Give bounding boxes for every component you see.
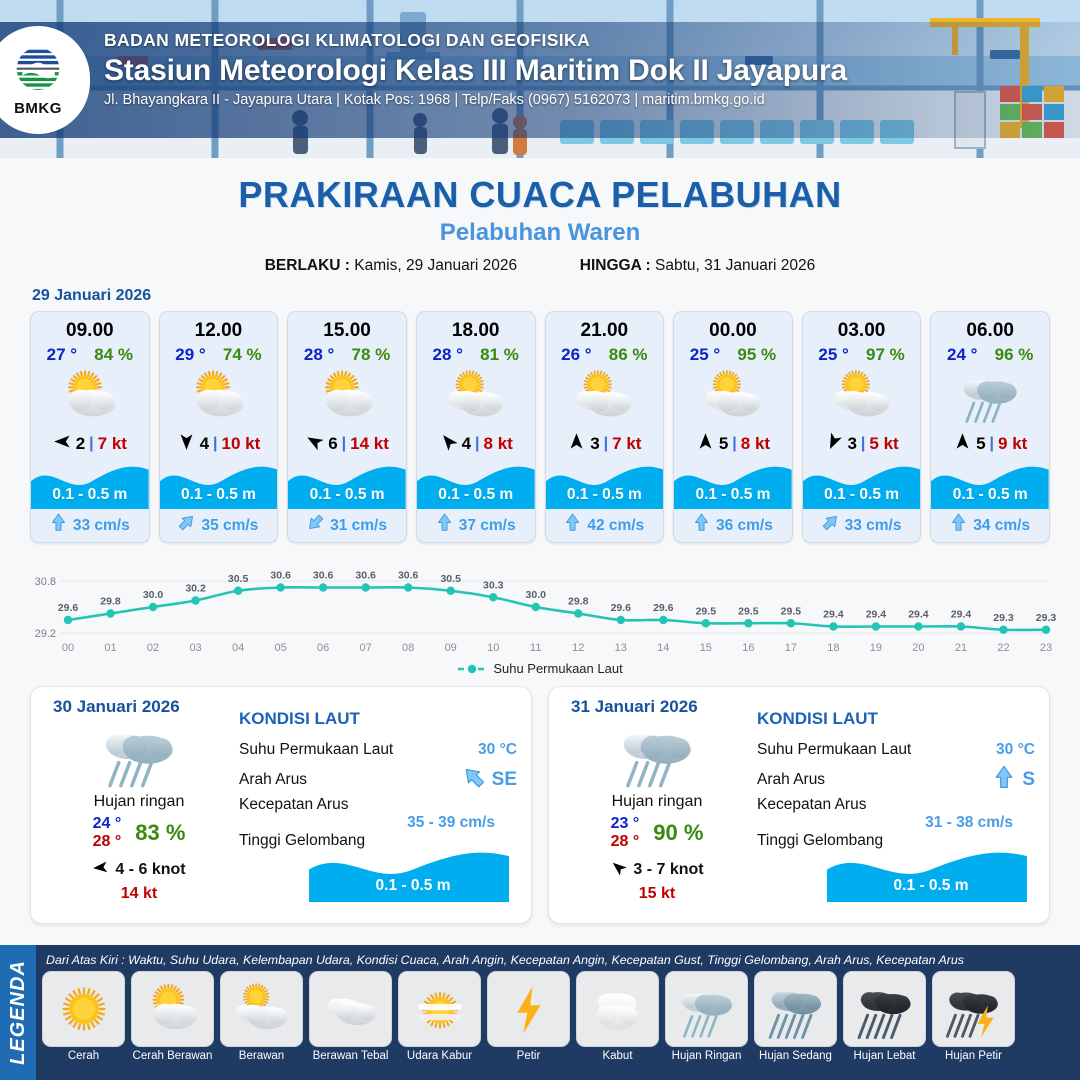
card-wave-block: 0.1 - 0.5 m: [288, 461, 406, 509]
card-current-speed: 42 cm/s: [587, 517, 644, 535]
wind-direction-arrow-icon: [696, 432, 715, 456]
daily-summary-card: 31 Januari 2026 Hujan ringan 23 ° 28 ° 9…: [548, 686, 1050, 924]
card-gust: 8 kt: [484, 434, 513, 454]
card-wind-direction: 3: [847, 434, 856, 454]
legend-item-list: Cerah Cerah Berawan Berawan Berawan Teba…: [42, 971, 1072, 1062]
svg-text:29.4: 29.4: [823, 609, 844, 621]
summary-wind-row: 4 - 6 knot: [45, 859, 233, 881]
svg-text:20: 20: [912, 642, 924, 654]
summary-temps: 23 ° 28 ° 90 %: [563, 815, 751, 851]
card-time: 09.00: [31, 312, 149, 342]
card-wind-direction: 6: [328, 434, 337, 454]
card-wind-direction: 5: [976, 434, 985, 454]
card-temperature: 29 °: [175, 345, 205, 365]
legend-item-label: Kabut: [576, 1050, 659, 1062]
summary-left: 31 Januari 2026 Hujan ringan 23 ° 28 ° 9…: [563, 697, 751, 911]
svg-text:30.6: 30.6: [355, 570, 376, 582]
summary-temp-max: 28 °: [93, 833, 122, 851]
current-direction-arrow-icon: [307, 513, 324, 537]
cerah-berawan-icon: [160, 365, 278, 427]
card-time: 15.00: [288, 312, 406, 342]
chart-legend: Suhu Permukaan Laut: [0, 661, 1080, 676]
card-gust: 7 kt: [98, 434, 127, 454]
svg-text:03: 03: [189, 642, 201, 654]
card-humidity: 96 %: [995, 345, 1034, 365]
summary-sea-conditions: KONDISI LAUT Suhu Permukaan Laut 30 °C A…: [751, 697, 1035, 911]
svg-text:13: 13: [615, 642, 627, 654]
legend-tab-label: LEGENDA: [7, 960, 30, 1065]
forecast-card: 00.00 25 ° 95 % 5 | 8 kt 0.1 - 0.5 m 36 …: [673, 311, 793, 543]
port-name: Pelabuhan Waren: [0, 219, 1080, 247]
validity-row: BERLAKU : Kamis, 29 Januari 2026 HINGGA …: [0, 257, 1080, 275]
sea-value: 30 °C: [478, 741, 517, 759]
wind-direction-arrow-icon: [953, 432, 972, 456]
card-humidity: 81 %: [480, 345, 519, 365]
card-temp-humidity: 29 ° 74 %: [160, 342, 278, 365]
card-temp-humidity: 27 ° 84 %: [31, 342, 149, 365]
svg-text:04: 04: [232, 642, 244, 654]
svg-text:30.6: 30.6: [270, 570, 291, 582]
card-temp-humidity: 25 ° 95 %: [674, 342, 792, 365]
svg-text:29.4: 29.4: [951, 609, 972, 621]
forecast-card: 18.00 28 ° 81 % 4 | 8 kt 0.1 - 0.5 m 37 …: [416, 311, 536, 543]
card-temp-humidity: 26 ° 86 %: [546, 342, 664, 365]
sea-value: 35 - 39 cm/s: [239, 814, 517, 832]
legend-item-label: Cerah: [42, 1050, 125, 1062]
card-gust: 7 kt: [612, 434, 641, 454]
wind-direction-arrow-icon: [824, 432, 843, 456]
berawan-icon: [546, 365, 664, 427]
svg-text:29.5: 29.5: [738, 605, 759, 617]
card-wind-row: 5 | 9 kt: [931, 427, 1049, 461]
summary-temp-min: 23 °: [611, 815, 640, 833]
current-direction-label: SE: [492, 769, 517, 791]
card-current-speed: 37 cm/s: [459, 517, 516, 535]
legend-body: Dari Atas Kiri : Waktu, Suhu Udara, Kele…: [36, 945, 1080, 1080]
card-current-row: 36 cm/s: [674, 509, 792, 542]
summary-wind-speed: 3 - 7 knot: [633, 861, 703, 879]
wind-direction-arrow-icon: [53, 432, 72, 456]
card-wave-height: 0.1 - 0.5 m: [674, 486, 792, 504]
current-direction-arrow-icon: [950, 513, 967, 537]
legend-item-label: Hujan Petir: [932, 1050, 1015, 1062]
svg-text:06: 06: [317, 642, 329, 654]
agency-name: BADAN METEOROLOGI KLIMATOLOGI DAN GEOFIS…: [104, 30, 847, 51]
udara-kabur-icon: [398, 971, 481, 1047]
svg-text:14: 14: [657, 642, 669, 654]
wind-direction-arrow-icon: [439, 432, 458, 456]
legend-item: Kabut: [576, 971, 659, 1062]
summary-humidity: 83 %: [135, 820, 185, 846]
hujan-ringan-icon: [45, 717, 233, 791]
card-temp-humidity: 25 ° 97 %: [803, 342, 921, 365]
svg-text:00: 00: [62, 642, 74, 654]
card-temperature: 28 °: [304, 345, 334, 365]
sea-key: Arah Arus: [757, 771, 825, 789]
hingga-label: HINGGA :: [580, 257, 651, 274]
card-current-speed: 33 cm/s: [845, 517, 902, 535]
hujan-ringan-icon: [563, 717, 751, 791]
card-current-row: 42 cm/s: [546, 509, 664, 542]
summary-gust: 15 kt: [563, 885, 751, 903]
current-direction-arrow-icon: [463, 765, 485, 796]
forecast-card: 03.00 25 ° 97 % 3 | 5 kt 0.1 - 0.5 m 33 …: [802, 311, 922, 543]
card-temperature: 25 °: [818, 345, 848, 365]
card-sep: |: [213, 435, 217, 453]
card-gust: 9 kt: [998, 434, 1027, 454]
card-wind-direction: 4: [462, 434, 471, 454]
forecast-card: 15.00 28 ° 78 % 6 | 14 kt 0.1 - 0.5 m 31…: [287, 311, 407, 543]
card-time: 18.00: [417, 312, 535, 342]
card-temperature: 28 °: [432, 345, 462, 365]
svg-text:29.8: 29.8: [568, 596, 589, 608]
card-sep: |: [342, 435, 346, 453]
legend-item-label: Udara Kabur: [398, 1050, 481, 1062]
card-time: 03.00: [803, 312, 921, 342]
legend-item: Petir: [487, 971, 570, 1062]
card-time: 06.00: [931, 312, 1049, 342]
sea-value: 30 °C: [996, 741, 1035, 759]
legend-item: Hujan Lebat: [843, 971, 926, 1062]
summary-date: 30 Januari 2026: [53, 697, 233, 717]
card-current-row: 31 cm/s: [288, 509, 406, 542]
svg-text:05: 05: [274, 642, 286, 654]
berawan-icon: [674, 365, 792, 427]
summary-wind-speed: 4 - 6 knot: [115, 861, 185, 879]
card-temp-humidity: 24 ° 96 %: [931, 342, 1049, 365]
svg-text:29.6: 29.6: [653, 602, 674, 614]
card-current-speed: 36 cm/s: [716, 517, 773, 535]
card-current-row: 34 cm/s: [931, 509, 1049, 542]
summary-sea-conditions: KONDISI LAUT Suhu Permukaan Laut 30 °C A…: [233, 697, 517, 911]
card-current-speed: 33 cm/s: [73, 517, 130, 535]
sea-key: Suhu Permukaan Laut: [239, 741, 393, 759]
card-wind-row: 2 | 7 kt: [31, 427, 149, 461]
svg-text:29.8: 29.8: [100, 596, 121, 608]
sea-row-wave: Tinggi Gelombang 0.1 - 0.5 m: [239, 832, 517, 902]
legend-item-label: Hujan Sedang: [754, 1050, 837, 1062]
wind-direction-arrow-icon: [92, 859, 109, 881]
card-wave-height: 0.1 - 0.5 m: [803, 486, 921, 504]
sea-value: 31 - 38 cm/s: [757, 814, 1035, 832]
svg-text:29.4: 29.4: [866, 609, 887, 621]
berawan-icon: [220, 971, 303, 1047]
forecast-day-label: 29 Januari 2026: [32, 287, 1080, 305]
hujan-ringan-icon: [931, 365, 1049, 427]
card-wave-block: 0.1 - 0.5 m: [803, 461, 921, 509]
current-direction-arrow-icon: [436, 513, 453, 537]
summary-condition: Hujan ringan: [45, 793, 233, 811]
legend-item: Udara Kabur: [398, 971, 481, 1062]
card-wind-direction: 3: [590, 434, 599, 454]
summary-temps: 24 ° 28 ° 83 %: [45, 815, 233, 851]
legend-strip: LEGENDA Dari Atas Kiri : Waktu, Suhu Uda…: [0, 945, 1080, 1080]
card-temperature: 26 °: [561, 345, 591, 365]
card-gust: 5 kt: [869, 434, 898, 454]
svg-text:29.6: 29.6: [58, 602, 79, 614]
petir-icon: [487, 971, 570, 1047]
svg-text:30.0: 30.0: [143, 589, 164, 601]
legend-item-label: Hujan Lebat: [843, 1050, 926, 1062]
card-wave-block: 0.1 - 0.5 m: [546, 461, 664, 509]
card-time: 00.00: [674, 312, 792, 342]
summary-temp-max: 28 °: [611, 833, 640, 851]
hujan-sedang-icon: [754, 971, 837, 1047]
berawan-icon: [417, 365, 535, 427]
legend-item-label: Berawan Tebal: [309, 1050, 392, 1062]
legend-item-label: Cerah Berawan: [131, 1050, 214, 1062]
svg-text:30.6: 30.6: [313, 570, 334, 582]
legend-item-label: Petir: [487, 1050, 570, 1062]
sea-row-current-direction: Arah Arus SE: [239, 765, 517, 796]
wind-direction-arrow-icon: [567, 432, 586, 456]
current-direction-label: S: [1022, 769, 1035, 791]
card-wind-row: 4 | 8 kt: [417, 427, 535, 461]
card-wind-row: 3 | 5 kt: [803, 427, 921, 461]
card-wind-row: 6 | 14 kt: [288, 427, 406, 461]
sea-row-current-direction: Arah Arus S: [757, 765, 1035, 796]
bmkg-logo-text: BMKG: [14, 100, 62, 117]
card-sep: |: [990, 435, 994, 453]
hingga-value: Sabtu, 31 Januari 2026: [655, 257, 815, 274]
card-wave-height: 0.1 - 0.5 m: [288, 486, 406, 504]
card-time: 12.00: [160, 312, 278, 342]
sea-key: Kecepatan Arus: [239, 796, 517, 814]
legend-tab: LEGENDA: [0, 945, 36, 1080]
summary-humidity: 90 %: [653, 820, 703, 846]
card-sep: |: [861, 435, 865, 453]
svg-text:29.5: 29.5: [781, 605, 802, 617]
card-wave-block: 0.1 - 0.5 m: [417, 461, 535, 509]
sea-row-current-speed: Kecepatan Arus 31 - 38 cm/s: [757, 796, 1035, 832]
summary-left: 30 Januari 2026 Hujan ringan 24 ° 28 ° 8…: [45, 697, 233, 911]
forecast-card: 21.00 26 ° 86 % 3 | 7 kt 0.1 - 0.5 m 42 …: [545, 311, 665, 543]
svg-text:19: 19: [870, 642, 882, 654]
card-humidity: 95 %: [737, 345, 776, 365]
svg-text:23: 23: [1040, 642, 1052, 654]
forecast-card: 12.00 29 ° 74 % 4 | 10 kt 0.1 - 0.5 m 35…: [159, 311, 279, 543]
sea-row-wave: Tinggi Gelombang 0.1 - 0.5 m: [757, 832, 1035, 902]
legend-item: Hujan Sedang: [754, 971, 837, 1062]
card-wind-row: 3 | 7 kt: [546, 427, 664, 461]
svg-text:11: 11: [530, 642, 541, 654]
svg-text:09: 09: [445, 642, 457, 654]
daily-summary-card: 30 Januari 2026 Hujan ringan 24 ° 28 ° 8…: [30, 686, 532, 924]
svg-text:02: 02: [147, 642, 159, 654]
svg-text:30.5: 30.5: [228, 573, 249, 585]
card-wave-block: 0.1 - 0.5 m: [160, 461, 278, 509]
legend-item: Cerah Berawan: [131, 971, 214, 1062]
current-direction-arrow-icon: [50, 513, 67, 537]
current-direction-arrow-icon: [693, 513, 710, 537]
station-name: Stasiun Meteorologi Kelas III Maritim Do…: [104, 54, 847, 88]
svg-text:30.8: 30.8: [35, 576, 56, 588]
sea-row-sst: Suhu Permukaan Laut 30 °C: [239, 735, 517, 765]
svg-text:29.6: 29.6: [611, 602, 632, 614]
hujan-petir-icon: [932, 971, 1015, 1047]
card-wave-block: 0.1 - 0.5 m: [31, 461, 149, 509]
legend-item: Berawan Tebal: [309, 971, 392, 1062]
sea-key: Suhu Permukaan Laut: [757, 741, 911, 759]
cerah-berawan-icon: [31, 365, 149, 427]
current-direction-arrow-icon: [822, 513, 839, 537]
hujan-ringan-icon: [665, 971, 748, 1047]
sst-chart: 30.829.229.60029.80130.00230.20330.50430…: [22, 555, 1058, 659]
svg-text:12: 12: [572, 642, 584, 654]
card-wave-block: 0.1 - 0.5 m: [931, 461, 1049, 509]
svg-text:15: 15: [700, 642, 712, 654]
card-sep: |: [732, 435, 736, 453]
card-current-speed: 35 cm/s: [201, 517, 258, 535]
card-humidity: 84 %: [94, 345, 133, 365]
wind-direction-arrow-icon: [610, 859, 627, 881]
legend-item-label: Berawan: [220, 1050, 303, 1062]
forecast-card: 06.00 24 ° 96 % 5 | 9 kt 0.1 - 0.5 m 34 …: [930, 311, 1050, 543]
bmkg-logo-icon: [10, 43, 66, 99]
svg-text:08: 08: [402, 642, 414, 654]
sea-conditions-title: KONDISI LAUT: [757, 709, 1035, 729]
card-wave-block: 0.1 - 0.5 m: [674, 461, 792, 509]
current-direction-arrow-icon: [564, 513, 581, 537]
svg-text:21: 21: [955, 642, 967, 654]
sea-row-current-speed: Kecepatan Arus 35 - 39 cm/s: [239, 796, 517, 832]
legend-item: Cerah: [42, 971, 125, 1062]
sea-value: S: [993, 765, 1035, 796]
summary-date: 31 Januari 2026: [571, 697, 751, 717]
cerah-berawan-icon: [288, 365, 406, 427]
card-humidity: 86 %: [609, 345, 648, 365]
card-current-row: 33 cm/s: [31, 509, 149, 542]
card-sep: |: [89, 435, 93, 453]
svg-text:22: 22: [997, 642, 1009, 654]
card-wind-direction: 2: [76, 434, 85, 454]
chart-legend-label: Suhu Permukaan Laut: [493, 661, 622, 676]
sea-value: 0.1 - 0.5 m: [309, 877, 517, 895]
card-wave-height: 0.1 - 0.5 m: [931, 486, 1049, 504]
wind-direction-arrow-icon: [305, 432, 324, 456]
berlaku-label: BERLAKU :: [265, 257, 350, 274]
svg-text:16: 16: [742, 642, 754, 654]
card-temperature: 25 °: [690, 345, 720, 365]
daily-summary-row: 30 Januari 2026 Hujan ringan 24 ° 28 ° 8…: [0, 676, 1080, 924]
card-wave-height: 0.1 - 0.5 m: [546, 486, 664, 504]
summary-wave-block: 0.1 - 0.5 m: [827, 846, 1035, 902]
sst-chart-svg: 30.829.229.60029.80130.00230.20330.50430…: [22, 555, 1058, 659]
card-current-row: 33 cm/s: [803, 509, 921, 542]
summary-gust: 14 kt: [45, 885, 233, 903]
legend-item: Hujan Ringan: [665, 971, 748, 1062]
card-wave-height: 0.1 - 0.5 m: [31, 486, 149, 504]
svg-text:29.5: 29.5: [696, 605, 717, 617]
sea-key: Kecepatan Arus: [757, 796, 1035, 814]
card-sep: |: [604, 435, 608, 453]
station-address: Jl. Bhayangkara II - Jayapura Utara | Ko…: [104, 92, 847, 108]
card-gust: 14 kt: [350, 434, 389, 454]
card-gust: 10 kt: [222, 434, 261, 454]
svg-text:29.4: 29.4: [908, 609, 929, 621]
card-humidity: 74 %: [223, 345, 262, 365]
svg-text:10: 10: [487, 642, 499, 654]
hujan-lebat-icon: [843, 971, 926, 1047]
kabut-icon: [576, 971, 659, 1047]
card-wave-height: 0.1 - 0.5 m: [417, 486, 535, 504]
svg-text:30.0: 30.0: [526, 589, 547, 601]
card-wind-direction: 4: [200, 434, 209, 454]
sea-conditions-title: KONDISI LAUT: [239, 709, 517, 729]
wind-direction-arrow-icon: [177, 432, 196, 456]
card-wind-row: 5 | 8 kt: [674, 427, 792, 461]
summary-wave-block: 0.1 - 0.5 m: [309, 846, 517, 902]
svg-text:30.3: 30.3: [483, 579, 504, 591]
card-current-speed: 34 cm/s: [973, 517, 1030, 535]
card-wind-row: 4 | 10 kt: [160, 427, 278, 461]
berawan-tebal-icon: [309, 971, 392, 1047]
summary-temp-min: 24 °: [93, 815, 122, 833]
page-title: PRAKIRAAN CUACA PELABUHAN: [0, 174, 1080, 216]
cerah-icon: [42, 971, 125, 1047]
svg-text:30.2: 30.2: [185, 583, 206, 595]
svg-text:17: 17: [785, 642, 797, 654]
card-time: 21.00: [546, 312, 664, 342]
legend-marker-icon: [457, 663, 487, 675]
svg-text:29.3: 29.3: [1036, 612, 1057, 624]
card-temperature: 24 °: [947, 345, 977, 365]
card-humidity: 97 %: [866, 345, 905, 365]
current-direction-arrow-icon: [178, 513, 195, 537]
card-wave-height: 0.1 - 0.5 m: [160, 486, 278, 504]
title-block: PRAKIRAAN CUACA PELABUHAN Pelabuhan Ware…: [0, 158, 1080, 275]
card-wind-direction: 5: [719, 434, 728, 454]
card-sep: |: [475, 435, 479, 453]
svg-text:29.2: 29.2: [35, 628, 56, 640]
summary-condition: Hujan ringan: [563, 793, 751, 811]
card-temperature: 27 °: [47, 345, 77, 365]
svg-text:30.6: 30.6: [398, 570, 419, 582]
legend-item: Hujan Petir: [932, 971, 1015, 1062]
sea-value: 0.1 - 0.5 m: [827, 877, 1035, 895]
sea-row-sst: Suhu Permukaan Laut 30 °C: [757, 735, 1035, 765]
cerah-berawan-icon: [131, 971, 214, 1047]
berlaku-value: Kamis, 29 Januari 2026: [354, 257, 517, 274]
sea-key: Arah Arus: [239, 771, 307, 789]
svg-text:18: 18: [827, 642, 839, 654]
card-humidity: 78 %: [352, 345, 391, 365]
svg-text:30.5: 30.5: [440, 573, 461, 585]
card-current-row: 35 cm/s: [160, 509, 278, 542]
current-direction-arrow-icon: [993, 765, 1015, 796]
berawan-icon: [803, 365, 921, 427]
legend-item-label: Hujan Ringan: [665, 1050, 748, 1062]
svg-text:07: 07: [360, 642, 372, 654]
card-temp-humidity: 28 ° 81 %: [417, 342, 535, 365]
legend-note: Dari Atas Kiri : Waktu, Suhu Udara, Kele…: [42, 951, 1072, 971]
summary-wind-row: 3 - 7 knot: [563, 859, 751, 881]
card-gust: 8 kt: [741, 434, 770, 454]
svg-text:01: 01: [104, 642, 116, 654]
header-text-block: BADAN METEOROLOGI KLIMATOLOGI DAN GEOFIS…: [104, 30, 847, 108]
legend-item: Berawan: [220, 971, 303, 1062]
card-current-row: 37 cm/s: [417, 509, 535, 542]
forecast-card: 09.00 27 ° 84 % 2 | 7 kt 0.1 - 0.5 m 33 …: [30, 311, 150, 543]
forecast-card-row: 09.00 27 ° 84 % 2 | 7 kt 0.1 - 0.5 m 33 …: [0, 311, 1080, 543]
svg-text:29.3: 29.3: [993, 612, 1014, 624]
card-current-speed: 31 cm/s: [330, 517, 387, 535]
page-header: BMKG BADAN METEOROLOGI KLIMATOLOGI DAN G…: [0, 0, 1080, 158]
card-temp-humidity: 28 ° 78 %: [288, 342, 406, 365]
sea-value: SE: [463, 765, 517, 796]
